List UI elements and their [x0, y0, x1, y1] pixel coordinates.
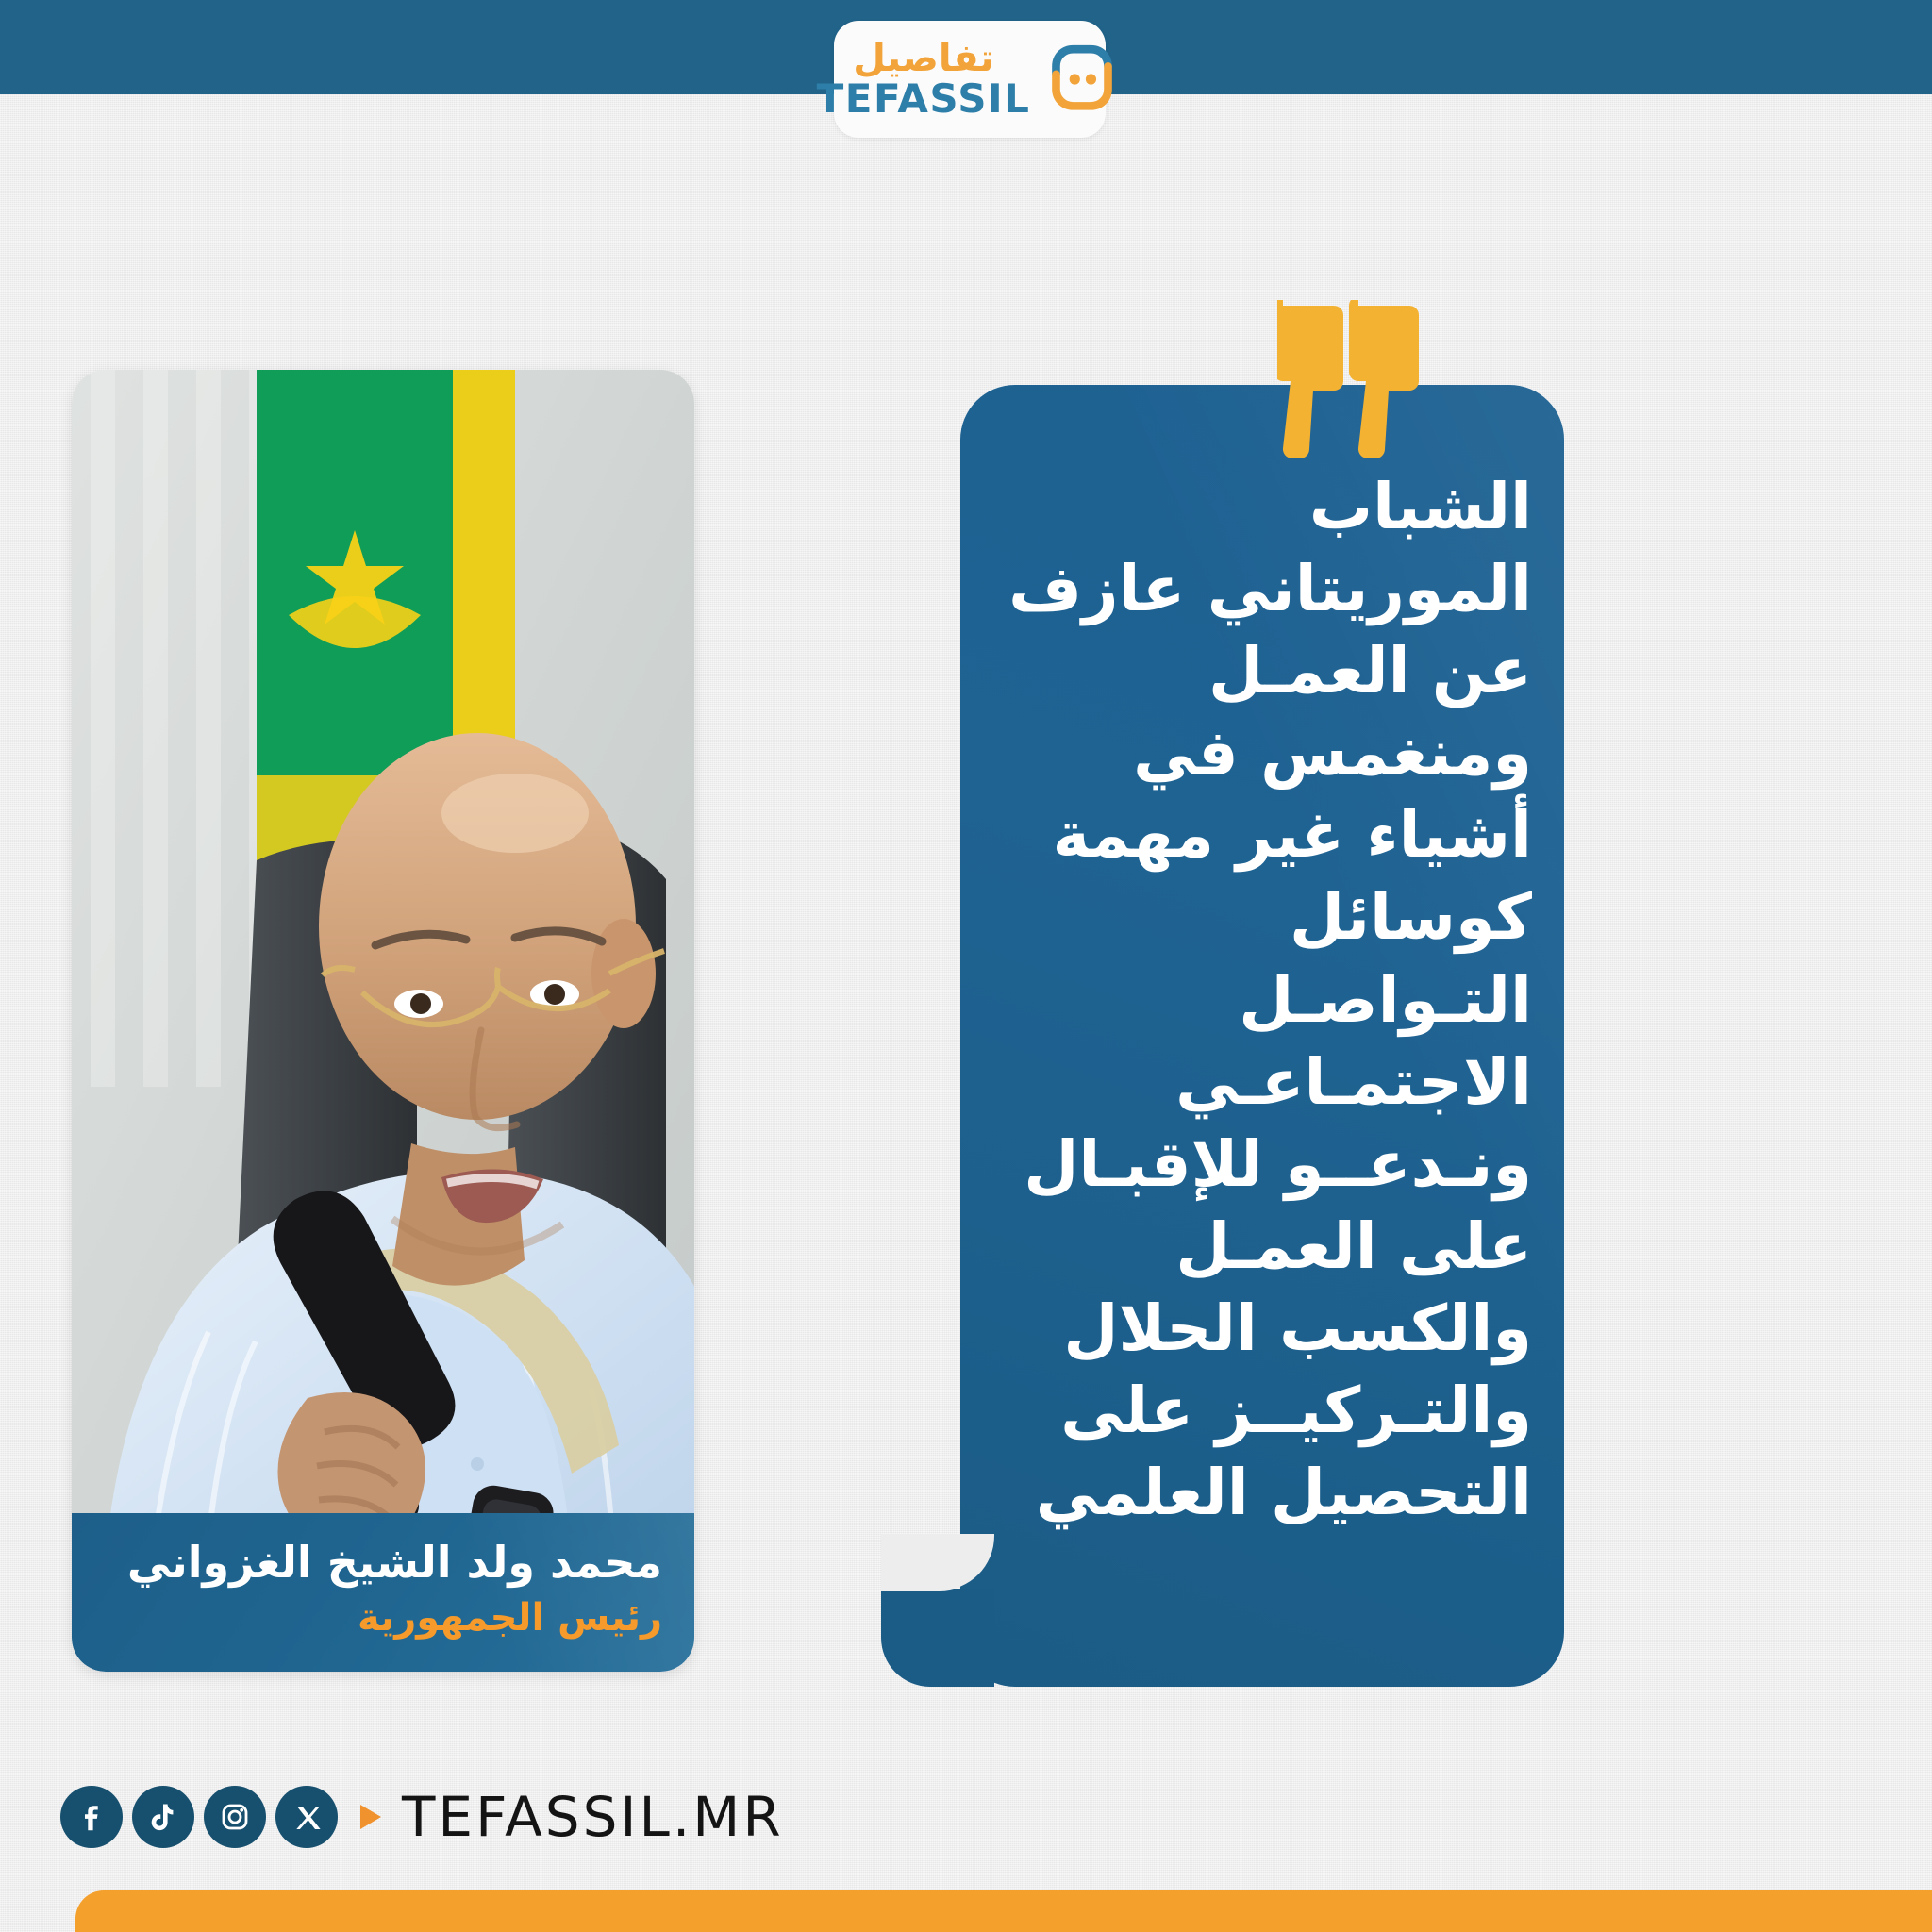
brand-name-arabic: تفاصيل [853, 40, 994, 77]
person-title: رئيس الجمهورية [358, 1596, 662, 1640]
site-url[interactable]: TEFASSIL.MR [402, 1785, 784, 1849]
brand-name-latin: TEFASSIL [817, 79, 1031, 119]
instagram-icon[interactable] [204, 1786, 266, 1848]
footer-bar: TEFASSIL.MR [60, 1785, 784, 1849]
footer-accent-bar [75, 1890, 1932, 1932]
portrait-photo [72, 370, 694, 1672]
tiktok-icon[interactable] [132, 1786, 194, 1848]
quote-bubble-tail [881, 1589, 994, 1687]
quotation-mark-icon [1277, 300, 1419, 470]
quote-text: الشباب الموريتاني عازف عن العمـل ومنغمس … [987, 466, 1532, 1534]
poster-canvas: تفاصيل TEFASSIL [0, 0, 1932, 1932]
x-twitter-icon[interactable] [275, 1786, 338, 1848]
person-name: محمد ولد الشيخ الغزواني [127, 1538, 662, 1588]
portrait-photo-card: محمد ولد الشيخ الغزواني رئيس الجمهورية [72, 370, 694, 1672]
caption-plate: محمد ولد الشيخ الغزواني رئيس الجمهورية [72, 1513, 694, 1672]
brand-logo-card[interactable]: تفاصيل TEFASSIL [834, 21, 1106, 138]
speech-bubble-icon [1041, 39, 1123, 120]
facebook-icon[interactable] [60, 1786, 123, 1848]
quote-bubble: الشباب الموريتاني عازف عن العمـل ومنغمس … [960, 385, 1564, 1687]
brand-wordmark: تفاصيل TEFASSIL [817, 40, 1031, 119]
play-triangle-icon [360, 1805, 381, 1829]
